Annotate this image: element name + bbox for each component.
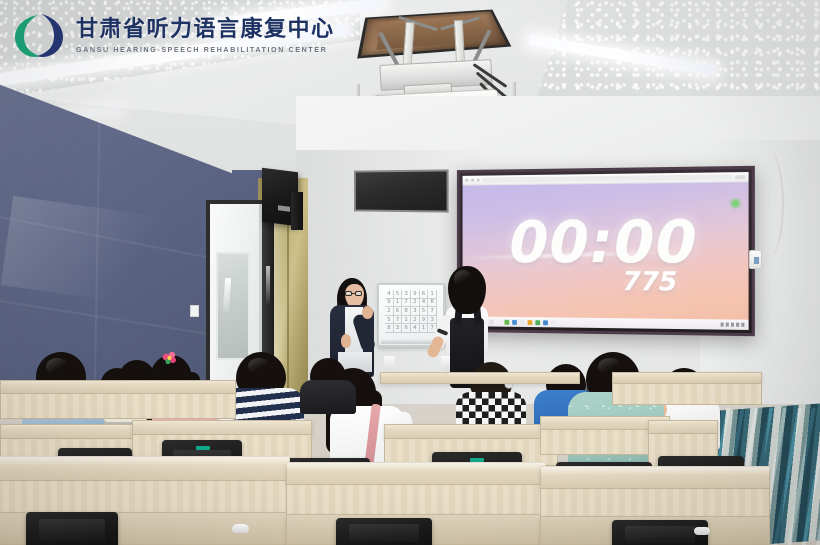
- hair-highlight: [46, 358, 68, 376]
- whiteboard-cell: 3: [394, 324, 403, 333]
- taskbar-icon[interactable]: [489, 319, 494, 324]
- wall-display-panel: [354, 169, 449, 212]
- center-logo-icon: [8, 11, 68, 61]
- desk-panel: [0, 393, 236, 419]
- desk-highlight: [286, 462, 546, 471]
- whiteboard-cell: 7: [428, 307, 437, 316]
- whiteboard-cell: 9: [411, 290, 420, 299]
- whiteboard-cell: 7: [402, 299, 411, 308]
- glasses-icon: [345, 291, 364, 296]
- whiteboard-cell: 5: [394, 290, 403, 299]
- watermark-text-block: 甘肃省听力语言康复中心 GANSU HEARING-SPEECH REHABIL…: [76, 18, 335, 53]
- flower-hairclip-icon: [160, 350, 180, 366]
- whiteboard-cell: 8: [385, 324, 394, 333]
- system-tray[interactable]: [721, 322, 745, 326]
- nav-forward-icon[interactable]: [471, 179, 474, 182]
- light-switch[interactable]: [190, 305, 199, 317]
- whiteboard-cell: 2: [411, 299, 420, 308]
- toolbar-menu-icon[interactable]: [735, 175, 745, 179]
- teacher-hand: [362, 306, 373, 319]
- status-indicator-dot: [731, 199, 740, 208]
- chair-label: [196, 446, 210, 450]
- desk-highlight: [540, 466, 770, 475]
- hair-highlight: [454, 270, 472, 288]
- student-shirt: [300, 380, 356, 414]
- chair[interactable]: [26, 512, 118, 545]
- whiteboard-cell: 7: [394, 316, 403, 325]
- whiteboard-cell: 3: [402, 290, 411, 299]
- whiteboard-cell: 3: [411, 307, 420, 316]
- whiteboard-cell: 8: [428, 299, 437, 308]
- whiteboard-cell: 2: [385, 307, 394, 316]
- whiteboard-cell: 1: [420, 324, 429, 333]
- whiteboard-cell: 9: [385, 299, 394, 308]
- speaker-mount-bracket: [291, 192, 303, 230]
- watermark-logo-block: 甘肃省听力语言康复中心 GANSU HEARING-SPEECH REHABIL…: [0, 0, 340, 66]
- center-name-english: GANSU HEARING-SPEECH REHABILITATION CENT…: [76, 45, 335, 54]
- whiteboard-cell: 6: [402, 324, 411, 333]
- desk-back-left: [0, 380, 236, 394]
- whiteboard-cell: 5: [385, 316, 394, 325]
- cup-on-desk: [384, 356, 395, 370]
- timer-app-canvas: 00:00 775: [463, 182, 749, 319]
- taskbar-icon[interactable]: [520, 319, 525, 324]
- taskbar[interactable]: [463, 316, 749, 330]
- projection-screen[interactable]: 00:00 775: [457, 166, 755, 336]
- whiteboard-cell: 4: [420, 299, 429, 308]
- whiteboard-cell: 4: [411, 324, 420, 333]
- door-edge-highlight: [266, 266, 270, 306]
- whiteboard-cell: 4: [385, 290, 394, 299]
- taskbar-icon[interactable]: [512, 319, 517, 324]
- whiteboard-cell: 2: [411, 316, 420, 325]
- whiteboard-cell: 1: [394, 299, 403, 308]
- door-window: [216, 252, 250, 360]
- taskbar-icon[interactable]: [504, 319, 509, 324]
- address-bar[interactable]: [482, 174, 731, 182]
- desk-panel: [286, 484, 546, 518]
- chair[interactable]: [336, 518, 432, 545]
- whiteboard-cell: 8: [402, 307, 411, 316]
- desk-panel: [0, 480, 290, 516]
- taskbar-icon[interactable]: [497, 319, 502, 324]
- desk-panel: [612, 383, 762, 405]
- whiteboard-cell: 3: [428, 316, 437, 325]
- reload-icon[interactable]: [477, 179, 480, 182]
- whiteboard-cell: 5: [420, 307, 429, 316]
- taskbar-icon[interactable]: [543, 320, 548, 325]
- white-object-on-desk: [232, 524, 249, 533]
- desk-highlight: [0, 456, 290, 466]
- whiteboard-cell: 1: [428, 290, 437, 299]
- taskbar-icon[interactable]: [528, 320, 533, 325]
- nav-back-icon[interactable]: [465, 179, 468, 182]
- whiteboard-cell: 6: [420, 290, 429, 299]
- whiteboard-cell: 6: [394, 307, 403, 316]
- timer-display: 00:00: [463, 213, 749, 272]
- timer-sub-display: 775: [623, 267, 678, 298]
- hair-highlight: [248, 358, 270, 374]
- whiteboard-cell: 9: [420, 316, 429, 325]
- desk-back-center: [380, 372, 580, 384]
- white-object-on-desk: [694, 527, 710, 535]
- whiteboard-cell: 1: [402, 316, 411, 325]
- center-name-chinese: 甘肃省听力语言康复中心: [76, 18, 335, 41]
- classroom-screenshot: 00:00 775: [0, 0, 820, 545]
- teacher-hand: [341, 334, 351, 348]
- projection-screen-surface: 00:00 775: [463, 172, 749, 330]
- whiteboard-number-grid: 453961917248268357571293836417: [385, 290, 437, 333]
- hanging-remote-control[interactable]: [749, 250, 762, 269]
- taskbar-icon[interactable]: [551, 320, 556, 325]
- taskbar-icon[interactable]: [535, 320, 540, 325]
